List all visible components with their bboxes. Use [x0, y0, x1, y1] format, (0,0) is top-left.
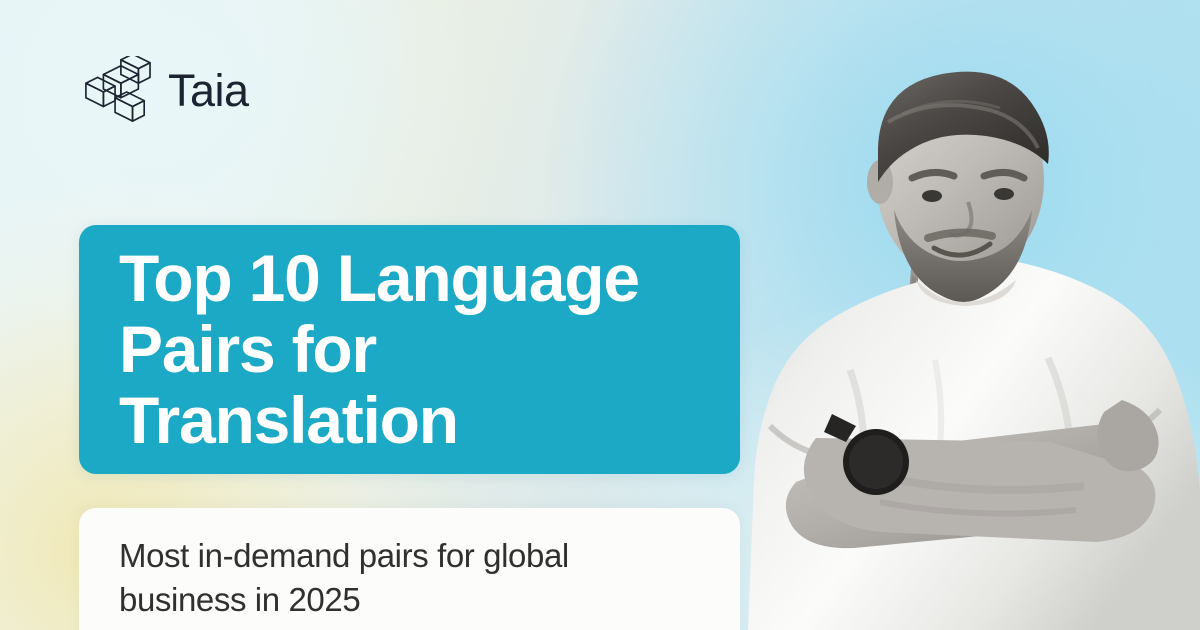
subtitle-card: Most in-demand pairs for global business…: [79, 508, 740, 630]
isometric-cubes-logo-icon: [82, 56, 152, 124]
brand-logo[interactable]: Taia: [82, 56, 249, 124]
page-title: Top 10 Language Pairs for Translation: [79, 243, 740, 457]
hero-photo: [730, 70, 1200, 630]
brand-name: Taia: [168, 68, 249, 113]
page-subtitle: Most in-demand pairs for global business…: [119, 534, 700, 621]
title-card: Top 10 Language Pairs for Translation: [79, 225, 740, 474]
social-banner-canvas: Taia Top 10 Language Pairs for Translati…: [0, 0, 1200, 630]
